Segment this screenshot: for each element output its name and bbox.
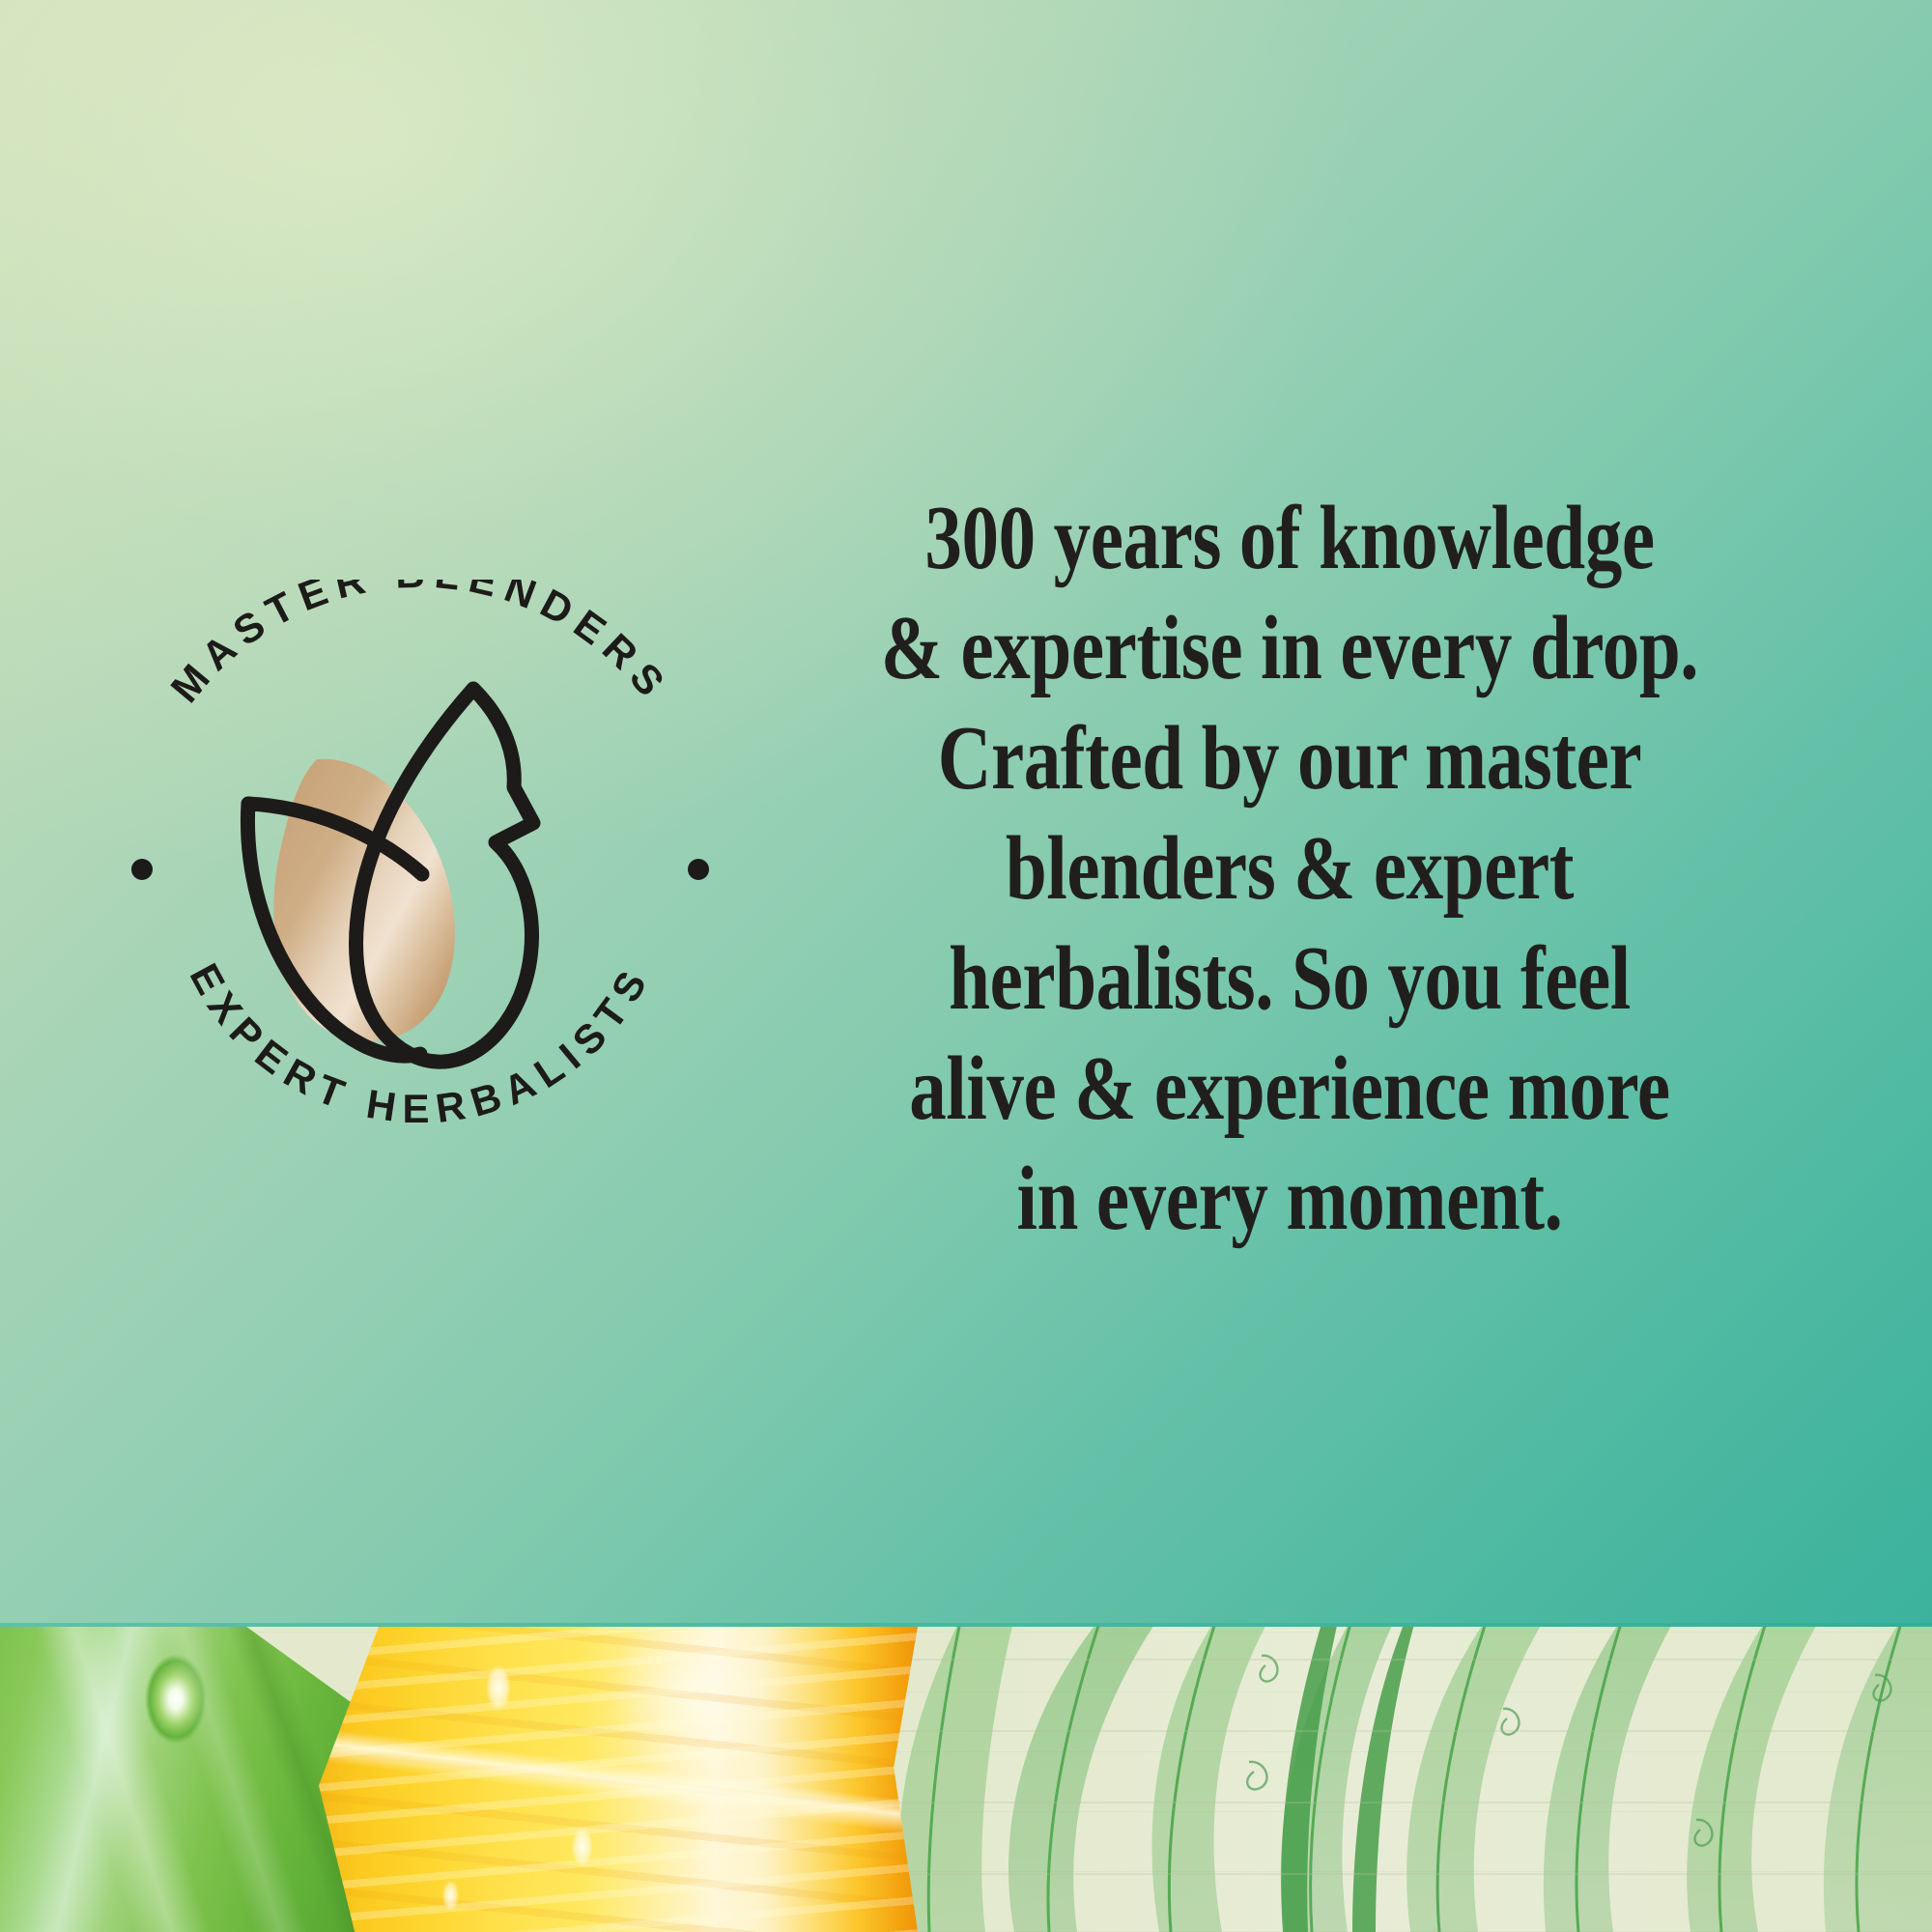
headline-line-5: herbalists. So you feel	[866, 923, 1713, 1034]
badge-top-text: MASTER BLENDERS	[161, 580, 678, 711]
headline-line-1: 300 years of knowledge	[866, 483, 1713, 593]
master-blenders-badge: MASTER BLENDERS EXPERT HERBALISTS	[130, 580, 710, 1159]
headline-line-4: blenders & expert	[866, 813, 1713, 923]
headline-line-2: & expertise in every drop.	[866, 593, 1713, 703]
headline-copy: 300 years of knowledge & expertise in ev…	[866, 483, 1713, 1254]
promo-banner: MASTER BLENDERS EXPERT HERBALISTS 300 ye…	[0, 0, 1932, 1932]
lemon-slice-photo	[319, 1627, 918, 1932]
dot-separator-left-icon	[131, 859, 153, 880]
bottom-photo-strip	[0, 1627, 1932, 1932]
headline-line-3: Crafted by our master	[866, 703, 1713, 813]
headline-line-6: alive & experience more	[866, 1034, 1713, 1144]
botanical-leaf-engraving-print	[869, 1627, 1932, 1932]
headline-line-7: in every moment.	[866, 1144, 1713, 1254]
dot-separator-right-icon	[688, 859, 709, 880]
